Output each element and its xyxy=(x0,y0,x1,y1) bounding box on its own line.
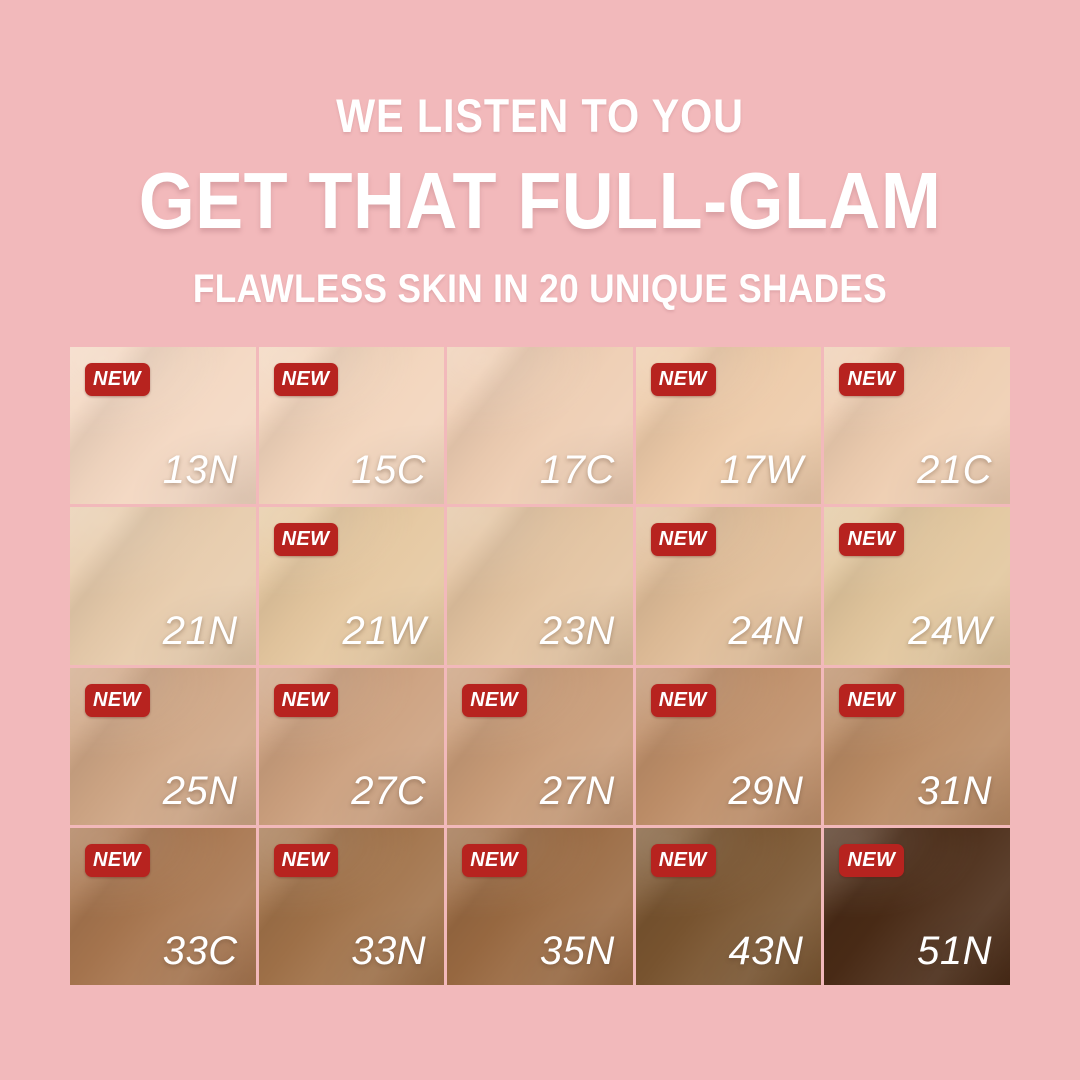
new-badge: NEW xyxy=(839,684,904,717)
shade-swatch[interactable]: NEW33C xyxy=(70,828,256,985)
new-badge: NEW xyxy=(651,684,716,717)
new-badge: NEW xyxy=(651,523,716,556)
shade-swatch[interactable]: NEW35N xyxy=(447,828,633,985)
shade-range-promo-graphic: WE LISTEN TO YOU GET THAT FULL-GLAM FLAW… xyxy=(0,0,1080,1080)
new-badge: NEW xyxy=(274,844,339,877)
shade-code-label: 17C xyxy=(540,450,615,490)
shade-code-label: 35N xyxy=(540,931,615,971)
new-badge: NEW xyxy=(651,844,716,877)
shade-grid: NEW13NNEW15C17CNEW17WNEW21C21NNEW21W23NN… xyxy=(70,347,1010,985)
shade-code-label: 27C xyxy=(351,771,426,811)
shade-swatch[interactable]: 23N xyxy=(447,507,633,664)
shade-swatch[interactable]: 21N xyxy=(70,507,256,664)
new-badge: NEW xyxy=(85,844,150,877)
new-badge: NEW xyxy=(274,684,339,717)
new-badge: NEW xyxy=(839,523,904,556)
shade-code-label: 21C xyxy=(917,450,992,490)
eyebrow-text: WE LISTEN TO YOU xyxy=(65,0,1015,139)
shade-swatch[interactable]: NEW24N xyxy=(636,507,822,664)
shade-swatch[interactable]: NEW15C xyxy=(259,347,445,504)
shade-swatch[interactable]: NEW31N xyxy=(824,668,1010,825)
shade-code-label: 25N xyxy=(163,771,238,811)
new-badge: NEW xyxy=(462,684,527,717)
shade-swatch[interactable]: NEW21C xyxy=(824,347,1010,504)
shade-code-label: 17W xyxy=(720,450,804,490)
new-badge: NEW xyxy=(839,844,904,877)
page-title: GET THAT FULL-GLAM xyxy=(54,139,1026,241)
shade-code-label: 43N xyxy=(729,931,804,971)
shade-swatch[interactable]: 17C xyxy=(447,347,633,504)
shade-code-label: 51N xyxy=(917,931,992,971)
shade-swatch[interactable]: NEW25N xyxy=(70,668,256,825)
new-badge: NEW xyxy=(839,363,904,396)
shade-code-label: 24N xyxy=(729,611,804,651)
new-badge: NEW xyxy=(274,363,339,396)
shade-swatch[interactable]: NEW21W xyxy=(259,507,445,664)
shade-swatch[interactable]: NEW27C xyxy=(259,668,445,825)
heading-block: WE LISTEN TO YOU GET THAT FULL-GLAM FLAW… xyxy=(0,0,1080,309)
new-badge: NEW xyxy=(274,523,339,556)
shade-swatch[interactable]: NEW43N xyxy=(636,828,822,985)
shade-swatch[interactable]: NEW33N xyxy=(259,828,445,985)
shade-code-label: 31N xyxy=(917,771,992,811)
shade-swatch[interactable]: NEW17W xyxy=(636,347,822,504)
shade-code-label: 24W xyxy=(908,611,992,651)
new-badge: NEW xyxy=(462,844,527,877)
shade-swatch[interactable]: NEW51N xyxy=(824,828,1010,985)
new-badge: NEW xyxy=(85,363,150,396)
shade-code-label: 21W xyxy=(342,611,426,651)
shade-code-label: 33C xyxy=(163,931,238,971)
shade-code-label: 29N xyxy=(729,771,804,811)
shade-swatch[interactable]: NEW13N xyxy=(70,347,256,504)
new-badge: NEW xyxy=(651,363,716,396)
new-badge: NEW xyxy=(85,684,150,717)
shade-code-label: 13N xyxy=(163,450,238,490)
subheading-text: FLAWLESS SKIN IN 20 UNIQUE SHADES xyxy=(65,241,1015,309)
shade-code-label: 33N xyxy=(351,931,426,971)
shade-swatch[interactable]: NEW24W xyxy=(824,507,1010,664)
shade-code-label: 23N xyxy=(540,611,615,651)
shade-code-label: 27N xyxy=(540,771,615,811)
shade-swatch[interactable]: NEW29N xyxy=(636,668,822,825)
shade-code-label: 21N xyxy=(163,611,238,651)
shade-swatch[interactable]: NEW27N xyxy=(447,668,633,825)
shade-code-label: 15C xyxy=(351,450,426,490)
